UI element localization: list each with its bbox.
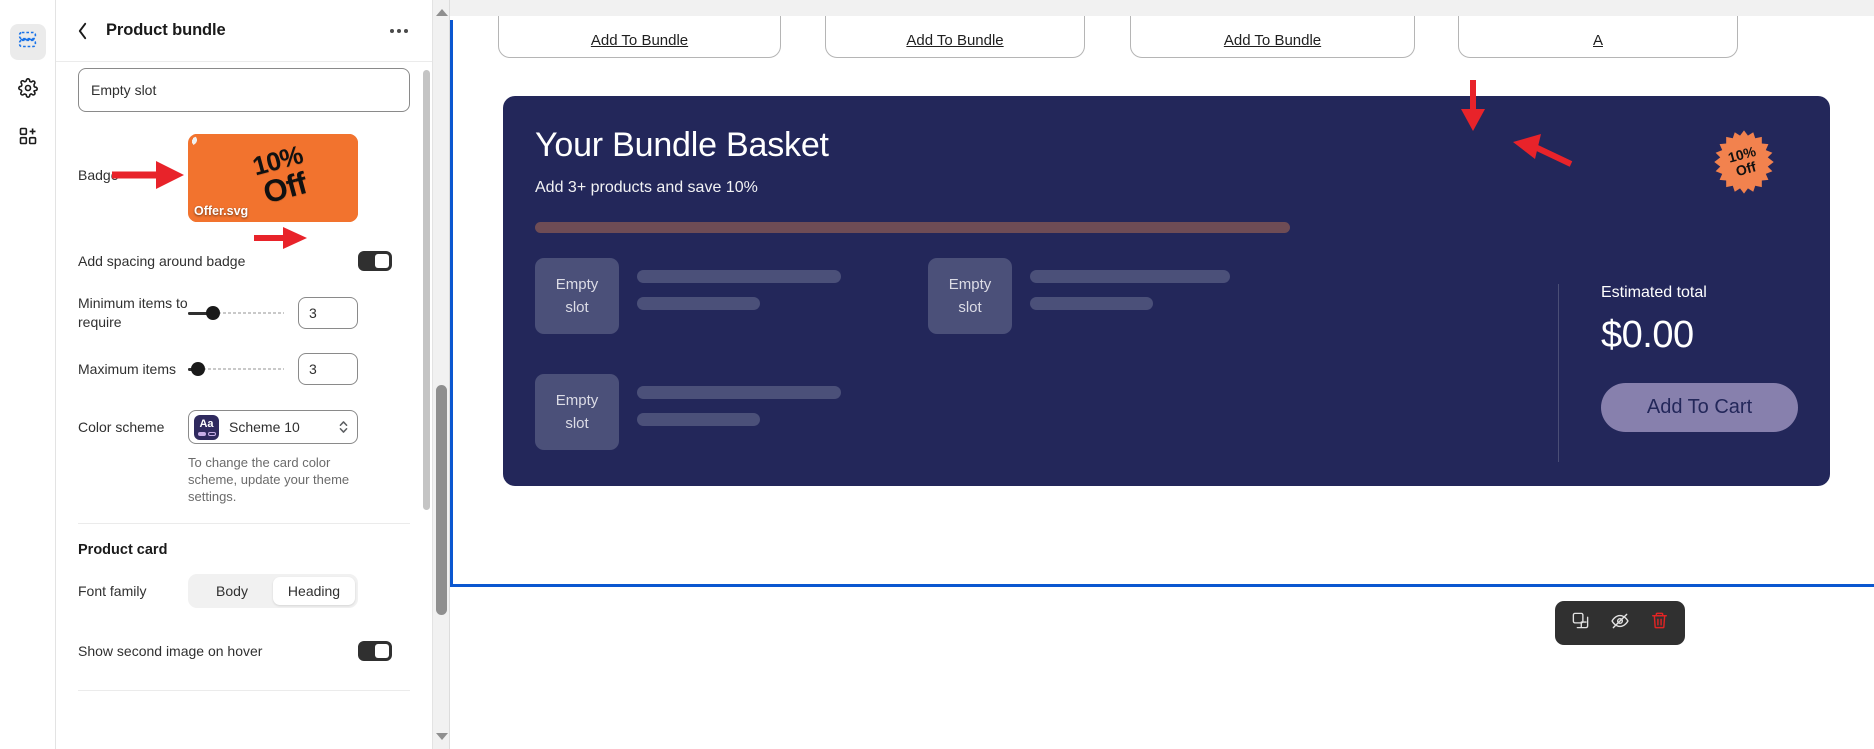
eye-slash-icon: [1610, 611, 1630, 636]
theme-preview-canvas: Add To Bundle Add To Bundle Add To Bundl…: [450, 0, 1874, 749]
empty-slot-line2: slot: [958, 296, 981, 319]
font-option-heading[interactable]: Heading: [273, 577, 355, 605]
product-card-partial[interactable]: Add To Bundle: [825, 16, 1085, 58]
sidebar-item-apps[interactable]: [10, 120, 46, 156]
panel-body: Empty slot Badge 10% Off Offer.svg Add s: [56, 62, 432, 749]
sections-icon: [17, 29, 38, 55]
color-scheme-swatch-icon: Aa: [194, 415, 219, 440]
sidebar-item-sections[interactable]: [10, 24, 46, 60]
empty-slot-line1: Empty: [556, 273, 599, 296]
bundle-slot-item[interactable]: Empty slot: [928, 258, 1230, 334]
font-family-row: Font family Body Heading: [78, 570, 410, 612]
add-to-bundle-button[interactable]: A: [1593, 32, 1603, 49]
slot-placeholder-lines: [637, 374, 841, 450]
font-family-label: Font family: [78, 582, 188, 601]
panel-header: Product bundle: [56, 0, 432, 62]
apps-blocks-icon: [18, 126, 38, 151]
badge-spacing-label: Add spacing around badge: [78, 252, 293, 271]
back-button[interactable]: [72, 21, 92, 41]
maximum-items-input[interactable]: 3: [298, 353, 358, 385]
estimated-total-amount: $0.00: [1601, 314, 1798, 357]
top-product-cards: Add To Bundle Add To Bundle Add To Bundl…: [450, 16, 1874, 60]
scroll-thumb[interactable]: [436, 385, 447, 615]
minimum-items-slider[interactable]: [188, 305, 284, 321]
chevron-updown-icon: [338, 419, 349, 435]
bundle-progress-bar: [535, 222, 1290, 233]
product-card-section-title: Product card: [78, 542, 410, 558]
minimum-items-input[interactable]: 3: [298, 297, 358, 329]
trash-icon: [1650, 611, 1669, 635]
bundle-slot-item[interactable]: Empty slot: [535, 374, 841, 450]
sidebar-item-settings[interactable]: [10, 72, 46, 108]
empty-slot-thumb[interactable]: Empty slot: [535, 374, 619, 450]
delete-button[interactable]: [1650, 611, 1669, 635]
color-scheme-row: Color scheme Aa Scheme 10: [78, 406, 410, 448]
bundle-subheading: Add 3+ products and save 10%: [535, 179, 758, 197]
duplicate-button[interactable]: [1571, 611, 1590, 635]
font-option-body[interactable]: Body: [191, 577, 273, 605]
badge-spacing-toggle[interactable]: [358, 251, 392, 271]
empty-slot-line2: slot: [565, 412, 588, 435]
scroll-down-arrow-icon[interactable]: [436, 733, 448, 740]
maximum-items-slider[interactable]: [188, 361, 284, 377]
second-image-hover-toggle[interactable]: [358, 641, 392, 661]
badge-label: Badge: [78, 134, 188, 185]
empty-slot-line1: Empty: [556, 389, 599, 412]
left-icon-rail: [0, 0, 56, 749]
product-card-partial[interactable]: A: [1458, 16, 1738, 58]
badge-off: Off: [260, 168, 310, 209]
color-scheme-select[interactable]: Aa Scheme 10: [188, 410, 358, 444]
estimated-total-panel: Estimated total $0.00 Add To Cart: [1558, 284, 1798, 462]
font-family-segmented-control: Body Heading: [188, 574, 358, 608]
slot-placeholder-lines: [637, 258, 841, 334]
add-to-cart-button[interactable]: Add To Cart: [1601, 383, 1798, 432]
add-to-bundle-button[interactable]: Add To Bundle: [906, 32, 1003, 49]
add-to-bundle-button[interactable]: Add To Bundle: [591, 32, 688, 49]
empty-slot-thumb[interactable]: Empty slot: [928, 258, 1012, 334]
color-scheme-help-text: To change the card color scheme, update …: [188, 454, 358, 505]
product-card-partial[interactable]: Add To Bundle: [498, 16, 781, 58]
second-image-hover-label: Show second image on hover: [78, 642, 293, 661]
second-image-hover-row: Show second image on hover: [78, 630, 410, 672]
empty-slot-field[interactable]: Empty slot: [78, 68, 410, 112]
add-to-bundle-button[interactable]: Add To Bundle: [1224, 32, 1321, 49]
maximum-items-label: Maximum items: [78, 360, 188, 379]
settings-gear-icon: [18, 78, 38, 103]
estimated-total-label: Estimated total: [1601, 284, 1798, 302]
duplicate-icon: [1571, 611, 1590, 635]
bundle-basket-section[interactable]: Your Bundle Basket Add 3+ products and s…: [503, 96, 1830, 486]
color-scheme-value: Scheme 10: [229, 419, 328, 435]
badge-spacing-row: Add spacing around badge: [78, 240, 410, 282]
slot-placeholder-lines: [1030, 258, 1230, 334]
panel-divider: [78, 523, 410, 524]
panel-outer-scrollbar[interactable]: [433, 0, 450, 749]
scroll-up-arrow-icon[interactable]: [436, 9, 448, 16]
settings-panel: Product bundle Empty slot Badge 10% Off …: [56, 0, 433, 749]
product-card-partial[interactable]: Add To Bundle: [1130, 16, 1415, 58]
badge-image-thumbnail[interactable]: 10% Off Offer.svg: [188, 134, 358, 222]
maximum-items-row: Maximum items 3: [78, 348, 410, 390]
bundle-heading: Your Bundle Basket: [535, 126, 829, 165]
more-actions-button[interactable]: [384, 23, 414, 39]
panel-divider-2: [78, 690, 410, 691]
canvas-top-strip: [450, 0, 1874, 16]
badge-row: Badge 10% Off Offer.svg: [78, 134, 410, 222]
hide-button[interactable]: [1610, 611, 1630, 636]
empty-slot-thumb[interactable]: Empty slot: [535, 258, 619, 334]
page-title: Product bundle: [106, 21, 226, 40]
panel-scrollbar-thumb[interactable]: [423, 70, 430, 510]
element-action-toolbar: [1555, 601, 1685, 645]
badge-filename: Offer.svg: [194, 204, 248, 218]
starburst-off: Off: [1734, 159, 1757, 179]
color-scheme-label: Color scheme: [78, 418, 188, 437]
bundle-slot-item[interactable]: Empty slot: [535, 258, 841, 334]
empty-slot-line2: slot: [565, 296, 588, 319]
minimum-items-row: Minimum items to require 3: [78, 292, 410, 334]
minimum-items-label: Minimum items to require: [78, 294, 188, 332]
swatch-aa-text: Aa: [199, 419, 213, 430]
discount-starburst-badge: 10% Off: [1711, 129, 1777, 195]
empty-slot-line1: Empty: [949, 273, 992, 296]
